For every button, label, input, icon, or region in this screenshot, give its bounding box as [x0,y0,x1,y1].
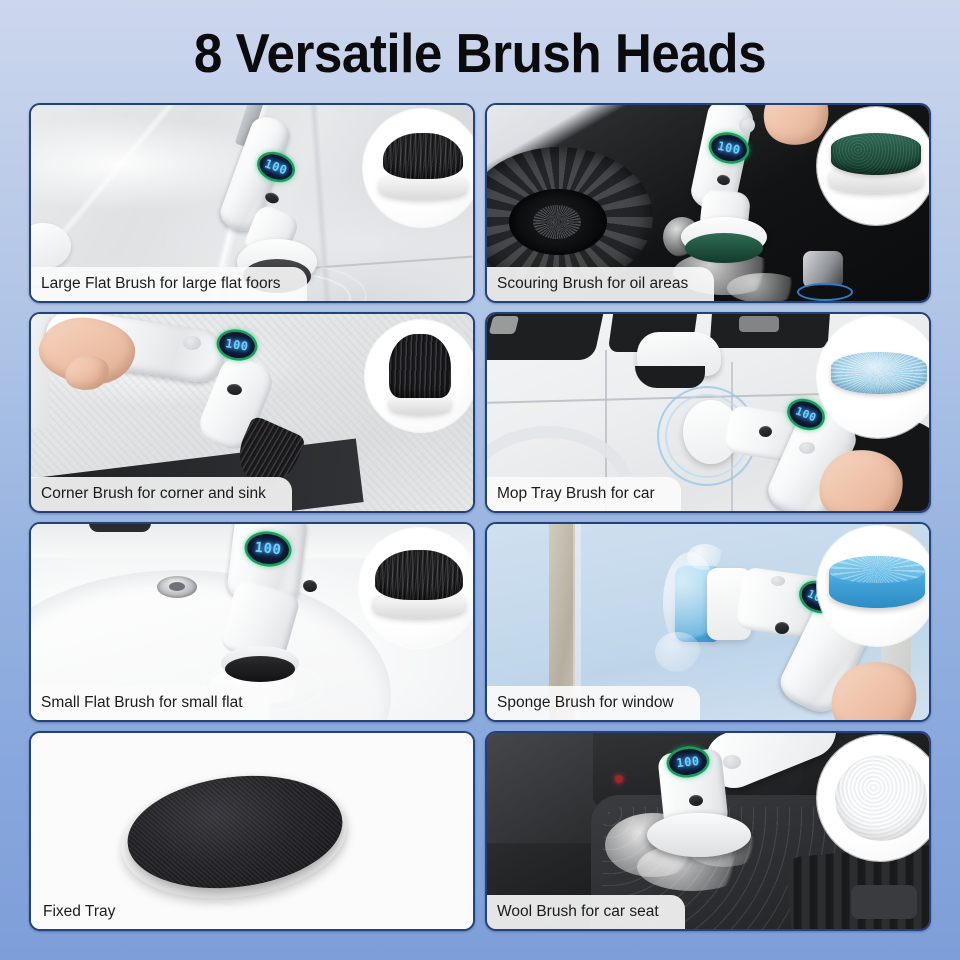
wool-pad [835,755,927,841]
panel-caption: Sponge Brush for window [487,686,700,720]
mat-block [851,885,917,919]
black-bristle-disc-brush-icon [363,109,473,227]
display-value: 100 [676,754,701,770]
display-value: 100 [794,405,819,425]
knob-ring [797,283,853,301]
cone-bristle-brush-icon [365,320,473,432]
panel-corner-brush[interactable]: 100 Corner Brush for corner and sink [29,312,475,512]
brush-bristles [225,656,295,682]
panel-wool-brush[interactable]: 100 Wool Brush for car seat [485,731,931,931]
display-value: 100 [224,337,249,354]
seat-back [487,733,607,843]
indicator-light [615,775,623,783]
panel-fixed-tray[interactable]: Fixed Tray [29,731,475,931]
inset-scouring-brush [817,107,929,225]
page-title: 8 Versatile Brush Heads [34,22,927,84]
brush-bristles [383,133,463,179]
indicator-led [723,755,741,769]
panel-caption: Large Flat Brush for large flat foors [31,267,307,301]
panel-mop-tray-brush[interactable]: 100 Mop Tray Brush for car [485,312,931,512]
brush-head-grid: 100 Large Flat Brush for large flat fo [29,103,931,931]
white-wool-pad-icon [817,735,929,861]
indicator-led [739,117,755,133]
display-value: 100 [716,139,742,158]
power-button [775,622,789,634]
inset-large-flat-brush [363,109,473,227]
panel-scouring-brush[interactable]: 100 [485,103,931,303]
display-value: 100 [263,156,290,177]
drain-hole [169,582,185,591]
burner-ring [533,205,581,239]
water-foam [727,273,801,301]
cone-bristles [389,334,451,398]
panel-caption: Corner Brush for corner and sink [31,477,292,511]
panel-caption: Scouring Brush for oil areas [487,267,714,301]
blue-microfiber-pad-icon [817,316,929,438]
panel-caption: Fixed Tray [31,895,141,929]
sponge-pad [829,556,925,608]
green-pad [685,233,763,263]
dense-black-bristle-disc-icon [359,528,473,648]
brush-bristles [375,550,463,600]
panel-small-flat-brush[interactable]: 100 Small Flat Brush for small flat [29,522,475,722]
brush-mount [647,813,751,857]
panel-large-flat-brush[interactable]: 100 Large Flat Brush for large flat fo [29,103,475,303]
microfiber-pad [831,352,927,394]
power-button [689,795,703,806]
water-splash [655,632,701,672]
inset-mop-tray-brush [817,316,929,438]
blue-honeycomb-sponge-icon [817,526,929,646]
display-value: 100 [254,539,282,558]
inset-corner-brush [365,320,473,432]
inset-wool-brush [817,735,929,861]
panel-caption: Wool Brush for car seat [487,895,685,929]
panel-caption: Small Flat Brush for small flat [31,686,269,720]
inset-small-flat-brush [359,528,473,648]
mirror-base [635,366,705,388]
window-glare [739,316,779,332]
faucet-base [89,524,151,532]
panel-sponge-brush[interactable]: 100 Sponge Brush for window [485,522,931,722]
water-splash [687,544,723,570]
inset-sponge-brush [817,526,929,646]
indicator-led [771,576,785,586]
infographic-page: 8 Versatile Brush Heads [0,0,960,960]
green-scouring-pad-icon [817,107,929,225]
window-glare [489,316,519,334]
panel-caption: Mop Tray Brush for car [487,477,681,511]
scouring-pad [831,133,921,175]
